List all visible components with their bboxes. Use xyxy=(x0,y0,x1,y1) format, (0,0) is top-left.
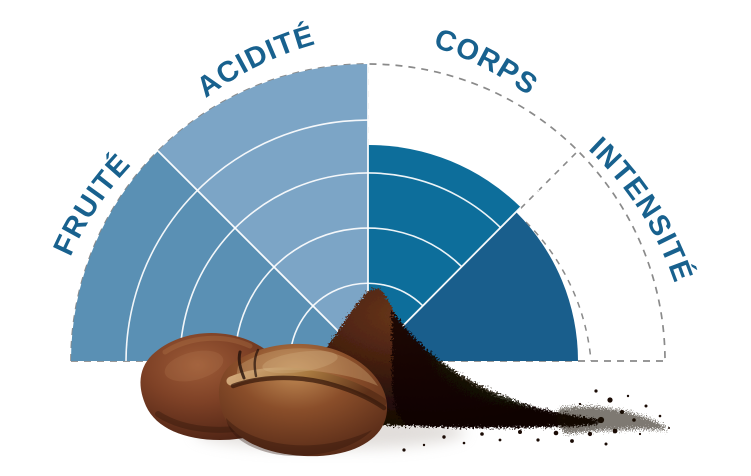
axis-label-intensite: INTENSITÉ xyxy=(583,131,701,286)
figure-canvas: FRUITÉ ACIDITÉ CORPS INTENSITÉ xyxy=(0,0,751,476)
axis-label-corps: CORPS xyxy=(430,23,543,102)
radar-chart: FRUITÉ ACIDITÉ CORPS INTENSITÉ xyxy=(0,0,751,476)
